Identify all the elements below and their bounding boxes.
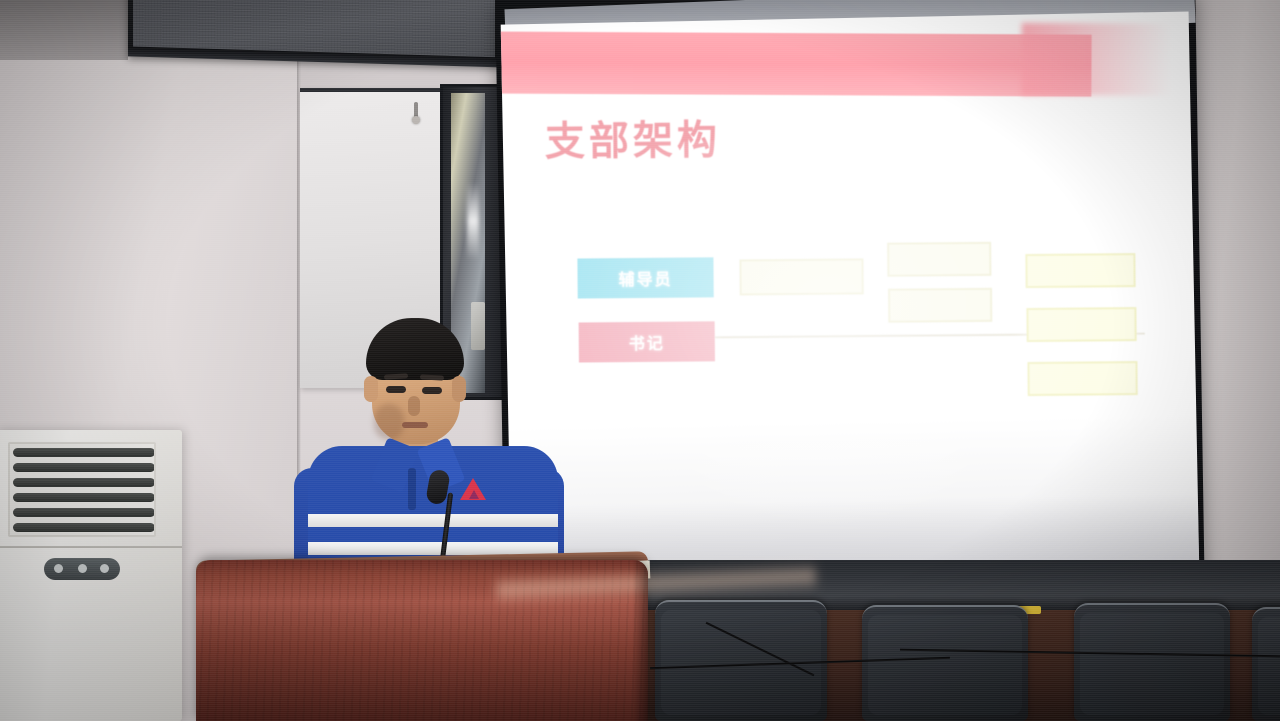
ac-button[interactable]: [100, 564, 109, 573]
org-node-secretary: 书记: [579, 321, 715, 362]
chair-cushion: [1258, 617, 1280, 715]
brand-triangle-inner-icon: [469, 490, 479, 499]
ear-right: [452, 376, 466, 402]
eye-left: [386, 386, 406, 393]
shirt-stripe: [308, 514, 558, 527]
presentation-slide: 支部架构 辅导员 书记: [501, 11, 1200, 584]
projection-screen-surface[interactable]: 支部架构 辅导员 书记: [501, 11, 1200, 584]
ceiling-corner-shadow: [0, 0, 128, 60]
ac-louver: [13, 463, 155, 472]
ac-louver: [13, 493, 155, 502]
hair: [366, 318, 464, 380]
ac-louver: [13, 508, 155, 517]
org-node-right-3: [1027, 361, 1137, 396]
glass-highlight: [467, 182, 479, 260]
ac-button[interactable]: [78, 564, 87, 573]
org-node-middle-2: [887, 242, 991, 277]
org-node-right-1: [1025, 253, 1135, 288]
photo-scene: 支部架构 辅导员 书记: [0, 0, 1280, 721]
ac-louver: [13, 448, 155, 457]
chair-2[interactable]: [862, 605, 1028, 721]
ac-button[interactable]: [54, 564, 63, 573]
org-node-counselor: 辅导员: [577, 257, 713, 298]
ac-louver: [13, 478, 155, 487]
hook-icon: [414, 102, 418, 118]
ac-grille: [8, 442, 156, 537]
nose: [408, 396, 420, 416]
org-node-right-2: [1026, 307, 1136, 342]
chair-cushion: [868, 615, 1022, 715]
eye-right: [422, 387, 442, 394]
ac-control-panel[interactable]: [44, 558, 120, 580]
floor-standing-air-conditioner: [0, 430, 182, 721]
chair-4[interactable]: [1252, 607, 1280, 721]
wooden-lectern: [196, 560, 648, 721]
org-node-middle-1: [739, 258, 863, 295]
face-shadow: [374, 404, 404, 440]
lectern-edge-shadow: [632, 560, 648, 721]
ac-louver: [13, 523, 155, 532]
chair-cushion: [1080, 613, 1224, 715]
ear-left: [364, 376, 378, 402]
chair-1[interactable]: [655, 600, 827, 721]
org-node-middle-3: [888, 288, 992, 323]
ac-body-seam: [0, 546, 182, 548]
mouth: [402, 422, 428, 428]
chair-3[interactable]: [1074, 603, 1230, 721]
shirt-placket: [408, 468, 416, 510]
